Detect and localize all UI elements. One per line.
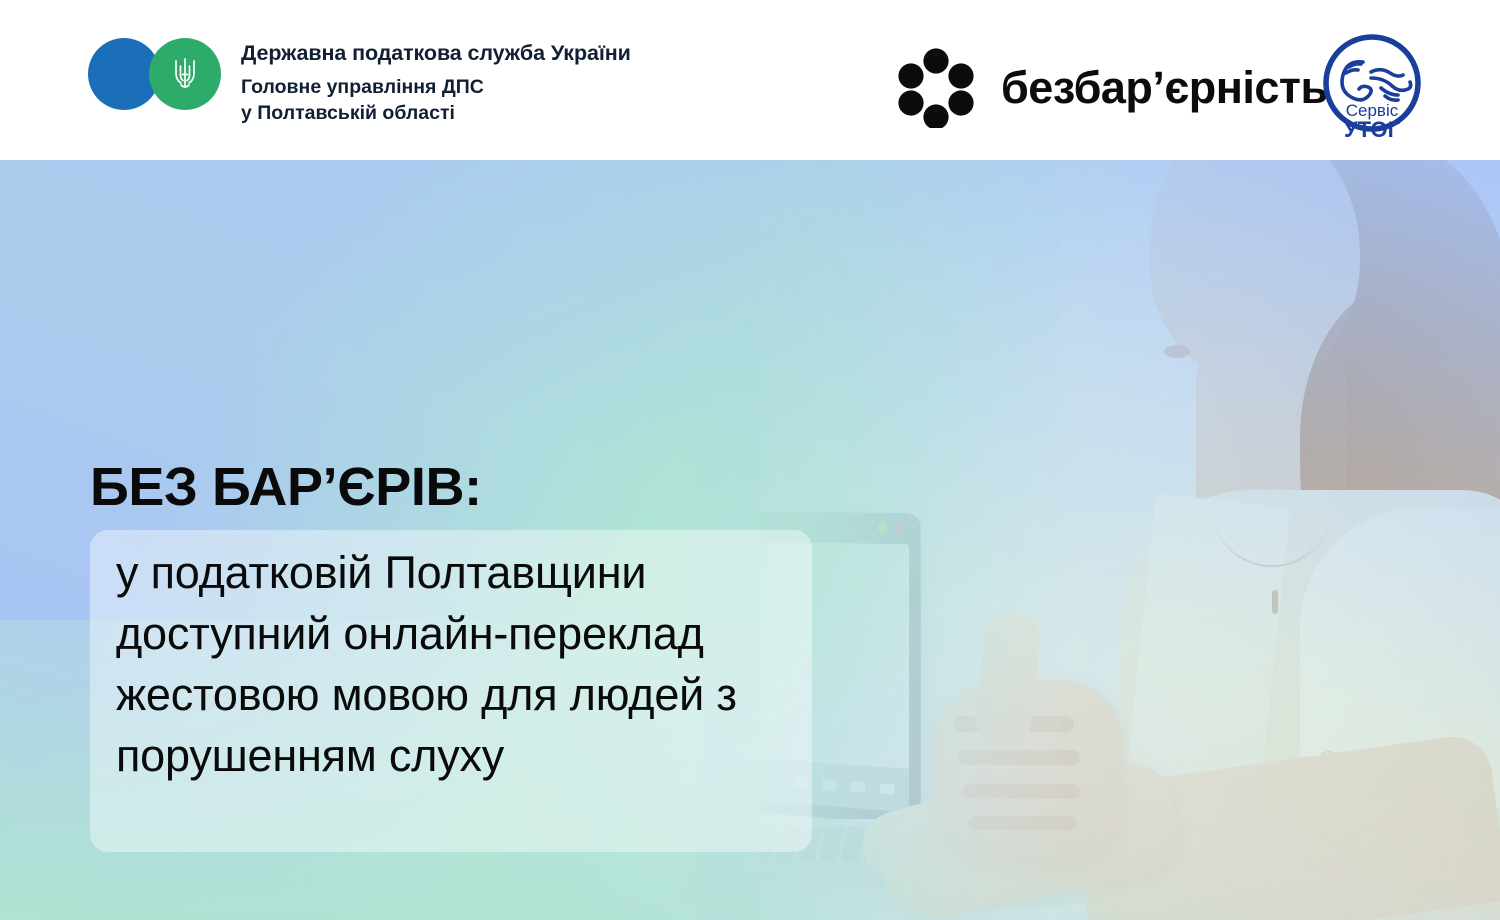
utog-badge-icon: Сервіс УТОГ — [1313, 26, 1431, 146]
banner-root: Державна податкова служба України Головн… — [0, 0, 1500, 920]
page-subtitle: у податковій Полтавщини доступний онлайн… — [116, 542, 816, 786]
sign-language-hands-icon — [1342, 62, 1411, 100]
utog-service-badge: Сервіс УТОГ — [1313, 26, 1431, 146]
org-title-line-2: Головне управління ДПС — [241, 74, 631, 100]
dps-logo — [88, 38, 221, 110]
ukrainian-trident-icon — [170, 54, 200, 94]
six-dot-ring-icon — [893, 48, 979, 128]
hero-stage: Ukr_sign_lang — [0, 160, 1500, 920]
logo-green-circle-icon — [149, 38, 221, 110]
barrier-free-wordmark: безбар’єрність — [1001, 63, 1328, 113]
dps-brand-block: Державна податкова служба України Головн… — [88, 38, 631, 126]
utog-label: УТОГ — [1344, 117, 1401, 142]
org-title-line-1: Державна податкова служба України — [241, 38, 631, 68]
dps-brand-text: Державна податкова служба України Головн… — [241, 38, 631, 126]
page-title: БЕЗ БАР’ЄРІВ: — [90, 456, 482, 518]
header-bar: Державна податкова служба України Головн… — [0, 0, 1500, 160]
org-title-line-3: у Полтавській області — [241, 100, 631, 126]
barrier-free-logo: безбар’єрність — [893, 48, 1328, 128]
